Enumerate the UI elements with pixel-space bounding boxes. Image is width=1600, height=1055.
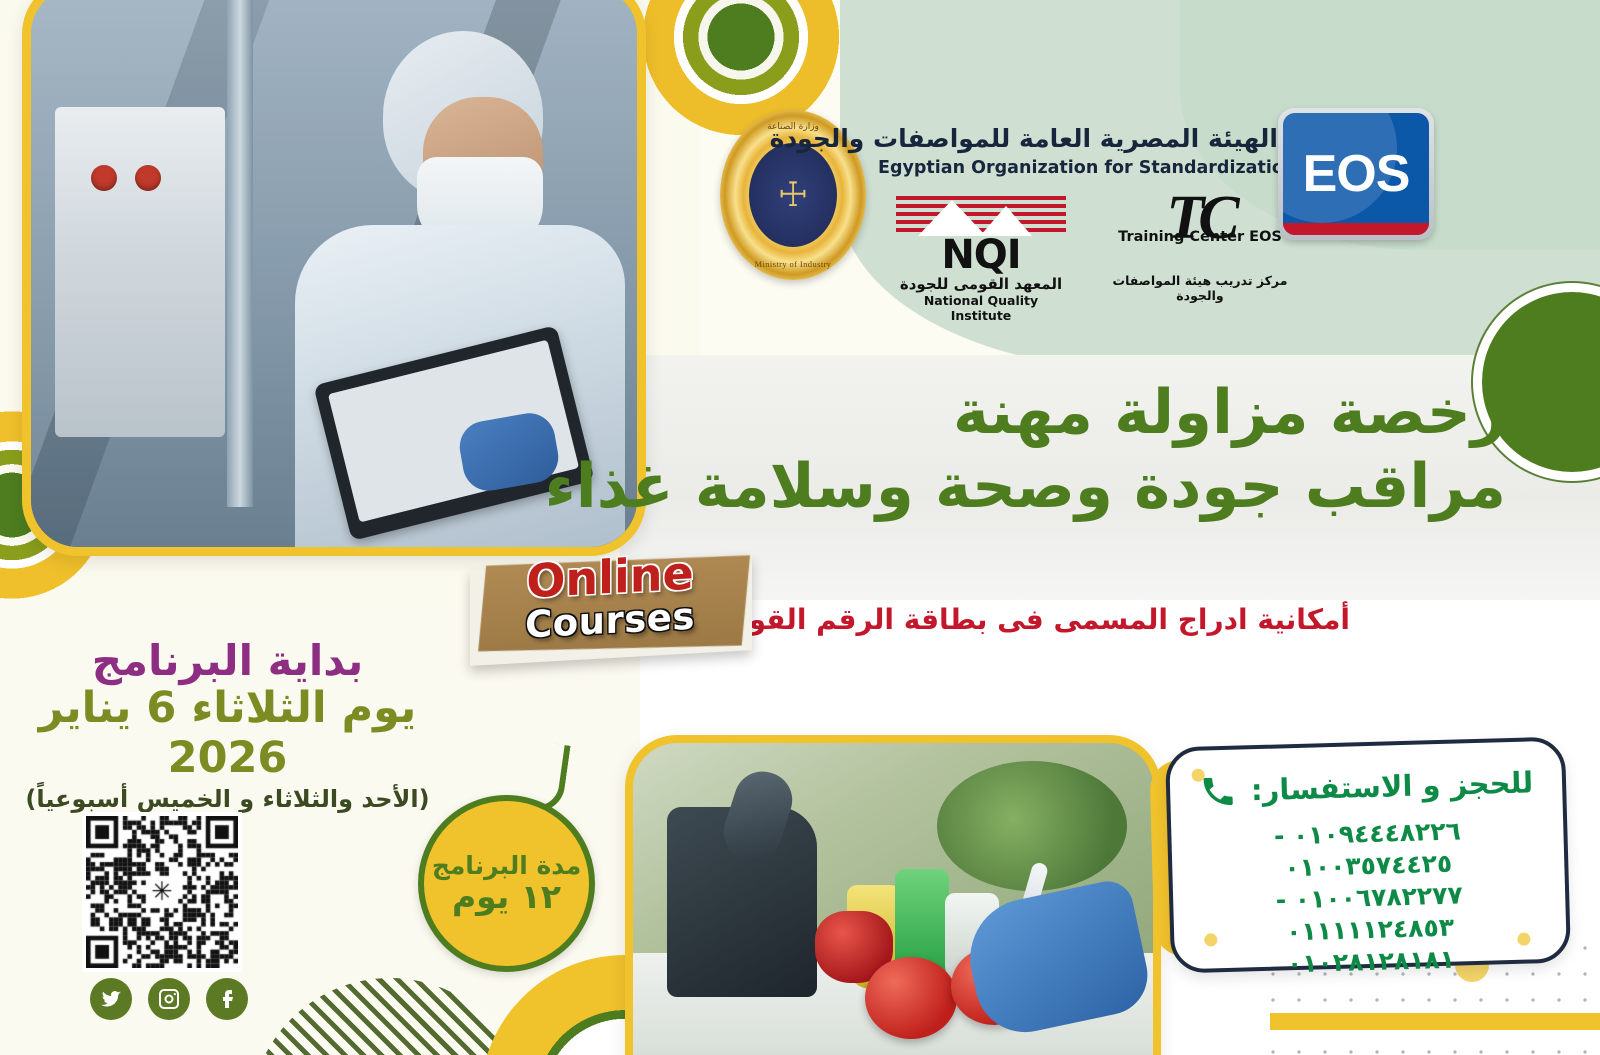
duration-label: مدة البرنامج bbox=[432, 852, 581, 880]
nqi-english-name: National Quality Institute bbox=[896, 293, 1066, 323]
photo-lab-machine bbox=[55, 107, 225, 437]
seal-english-label: Ministry of Industry bbox=[720, 259, 866, 269]
program-start-title: بداية البرنامج bbox=[0, 636, 455, 685]
qr-code-canvas[interactable] bbox=[86, 816, 238, 968]
phone-icon bbox=[1199, 772, 1238, 811]
qr-code[interactable] bbox=[82, 812, 242, 972]
contact-number-line[interactable]: ٠١٠٩٤٤٤٨٢٢٦ - ٠١٠٠٣٥٧٤٤٢٥ bbox=[1197, 813, 1539, 886]
online-courses-text: Online Courses bbox=[476, 547, 744, 646]
online-courses-banner: Online Courses bbox=[460, 548, 760, 668]
twitter-icon[interactable] bbox=[90, 978, 132, 1020]
tc-english-name: Training Center EOS bbox=[1100, 229, 1300, 245]
seal-eagle-icon: ☩ bbox=[749, 143, 837, 247]
instagram-icon[interactable] bbox=[148, 978, 190, 1020]
headline-line-2: مراقب جودة وصحة وسلامة غذاء bbox=[806, 450, 1506, 524]
contact-heading: للحجز و الاستفسار: bbox=[1251, 765, 1534, 807]
eos-arabic-name: الهيئة المصرية العامة للمواصفات والجودة bbox=[878, 124, 1278, 153]
eos-badge-logo: EOS bbox=[1278, 108, 1434, 240]
poster-root: وزارة الصناعة ☩ Ministry of Industry اله… bbox=[0, 0, 1600, 1055]
yellow-band-decoration bbox=[1270, 1013, 1600, 1030]
eos-badge-inner: EOS bbox=[1283, 113, 1429, 235]
eos-badge-text: EOS bbox=[1303, 144, 1410, 204]
program-start-date: يوم الثلاثاء 6 يناير 2026 bbox=[0, 683, 455, 783]
training-center-logo: TC Training Center EOS مركز تدريب هيئة ا… bbox=[1100, 192, 1300, 303]
nqi-logo: NQI المعهد القومى للجودة National Qualit… bbox=[896, 196, 1066, 323]
contact-number-line[interactable]: ٠١٠٠٦٧٨٢٢٧٧ - ٠١١١١١٢٤٨٥٣ bbox=[1199, 877, 1541, 950]
duration-value: ١٢ يوم bbox=[452, 879, 561, 915]
nqi-mountain-mark-icon bbox=[896, 196, 1066, 236]
photo-machine-knob bbox=[135, 165, 161, 191]
eos-english-name: Egyptian Organization for Standardizatio… bbox=[878, 158, 1278, 178]
duration-badge: مدة البرنامج ١٢ يوم bbox=[418, 795, 595, 972]
contact-card-inner: للحجز و الاستفسار: ٠١٠٩٤٤٤٨٢٢٦ - ٠١٠٠٣٥٧… bbox=[1169, 741, 1567, 970]
nqi-acronym: NQI bbox=[896, 236, 1066, 274]
contact-card: للحجز و الاستفسار: ٠١٠٩٤٤٤٨٢٢٦ - ٠١٠٠٣٥٧… bbox=[1165, 736, 1571, 973]
social-links bbox=[78, 978, 248, 1020]
facebook-icon[interactable] bbox=[206, 978, 248, 1020]
tc-arabic-name: مركز تدريب هيئة المواصفات والجودة bbox=[1100, 273, 1300, 303]
photo-laboratory bbox=[625, 735, 1161, 1055]
photo-tomato bbox=[865, 957, 957, 1039]
program-start-note: (الأحد والثلاثاء و الخميس أسبوعياً) bbox=[0, 785, 455, 813]
logo-row: وزارة الصناعة ☩ Ministry of Industry اله… bbox=[700, 100, 1460, 320]
contact-numbers: ٠١٠٩٤٤٤٨٢٢٦ - ٠١٠٠٣٥٧٤٤٢٥ ٠١٠٠٦٧٨٢٢٧٧ - … bbox=[1197, 813, 1541, 982]
headline-line-1: رخصة مزاولة مهنة bbox=[806, 376, 1506, 450]
contact-card-heading-row: للحجز و الاستفسار: bbox=[1196, 763, 1537, 810]
program-start-block: بداية البرنامج يوم الثلاثاء 6 يناير 2026… bbox=[0, 636, 455, 813]
photo-machine-knob bbox=[91, 165, 117, 191]
headline-red-subtitle: أمكانية ادراج المسمى فى بطاقة الرقم القو… bbox=[703, 603, 1350, 636]
nqi-arabic-name: المعهد القومى للجودة bbox=[896, 275, 1066, 293]
headline-block: رخصة مزاولة مهنة مراقب جودة وصحة وسلامة … bbox=[806, 376, 1506, 525]
photo-lab-tube bbox=[227, 0, 253, 507]
